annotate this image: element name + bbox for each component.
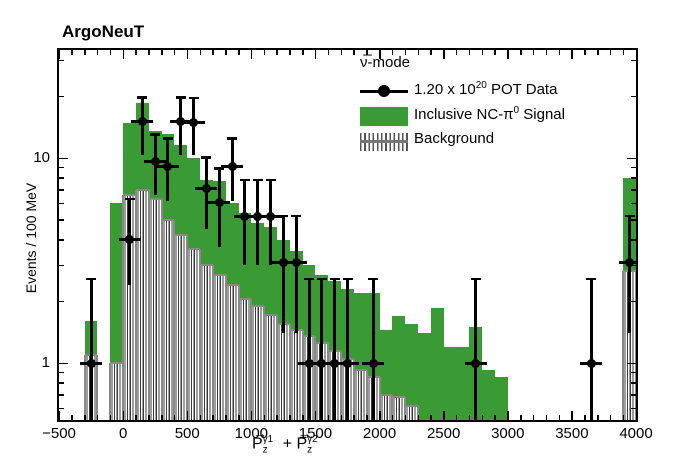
x-minor-tick — [200, 415, 202, 420]
x-minor-tick — [341, 415, 343, 420]
x-minor-tick-top — [328, 50, 330, 55]
background-bar-edge — [276, 315, 278, 420]
signal-bar — [456, 347, 469, 420]
y-major-tick-right — [627, 158, 636, 160]
x-minor-tick — [84, 415, 86, 420]
y-minor-tick — [59, 189, 64, 191]
signal-bar — [444, 347, 457, 420]
signal-bar — [482, 370, 495, 420]
y-minor-tick-right — [631, 96, 636, 98]
y-major-tick — [59, 158, 68, 160]
data-point-marker — [125, 235, 134, 244]
x-minor-tick — [161, 415, 163, 420]
data-point-cap — [150, 133, 160, 136]
data-point-cap — [304, 278, 314, 281]
data-point-cap — [189, 97, 199, 100]
x-minor-tick-top — [200, 50, 202, 55]
signal-swatch-icon — [360, 107, 408, 126]
data-point-cap — [625, 215, 635, 218]
y-major-tick-right — [627, 363, 636, 365]
x-minor-tick — [97, 415, 99, 420]
x-minor-tick — [135, 415, 137, 420]
y-minor-tick — [59, 219, 64, 221]
x-major-tick — [187, 411, 189, 420]
legend-row-signal: Inclusive NC-π0 Signal — [352, 104, 622, 129]
x-minor-tick-top — [623, 50, 625, 55]
y-minor-tick — [59, 177, 64, 179]
data-point-marker — [228, 162, 237, 171]
x-title-sub1: z — [263, 445, 268, 456]
data-point-marker — [202, 184, 211, 193]
y-minor-tick — [59, 96, 64, 98]
x-minor-tick-top — [135, 50, 137, 55]
x-minor-tick — [174, 415, 176, 420]
y-minor-tick-right — [631, 219, 636, 221]
signal-bar — [431, 308, 444, 420]
data-point-errorbar — [243, 179, 246, 265]
x-minor-tick — [430, 415, 432, 420]
background-bar-edge — [366, 370, 368, 420]
background-bar-edge — [173, 220, 175, 420]
data-point-cap — [125, 198, 135, 201]
x-minor-tick-top — [148, 50, 150, 55]
data-point-marker — [343, 359, 352, 368]
data-point-marker — [369, 359, 378, 368]
y-major-tick — [59, 363, 68, 365]
data-point-cap — [253, 179, 263, 182]
data-point-marker — [587, 359, 596, 368]
y-minor-tick-right — [631, 394, 636, 396]
x-minor-tick — [469, 415, 471, 420]
y-minor-tick — [59, 203, 64, 205]
data-point-cap — [201, 156, 211, 159]
x-major-tick — [251, 411, 253, 420]
y-minor-tick-right — [631, 189, 636, 191]
y-minor-tick-right — [631, 177, 636, 179]
data-point-cap — [586, 278, 596, 281]
data-point-errorbar — [590, 278, 593, 420]
y-minor-tick-right — [631, 203, 636, 205]
x-tick-label: 4000 — [591, 425, 681, 442]
data-point-marker — [292, 258, 301, 267]
x-minor-tick — [597, 415, 599, 420]
legend-row-background: Background — [352, 129, 622, 154]
data-point-cap — [278, 215, 288, 218]
data-point-cap — [240, 179, 250, 182]
legend: ν̅-mode 1.20 x 1020 POT Data Inclusive N… — [352, 54, 622, 154]
background-bar-edge — [186, 235, 188, 420]
data-point-cap — [176, 96, 186, 99]
x-major-tick-top — [59, 50, 61, 59]
x-minor-tick-top — [97, 50, 99, 55]
background-bar-edge — [263, 306, 265, 420]
x-major-tick — [315, 411, 317, 420]
data-point-cap — [317, 278, 327, 281]
x-minor-tick — [110, 415, 112, 420]
x-minor-tick — [353, 415, 355, 420]
data-point-errorbar — [372, 278, 375, 420]
y-minor-tick — [59, 60, 64, 62]
y-tick-label: 1 — [10, 354, 50, 371]
x-minor-tick — [559, 415, 561, 420]
data-point-errorbar — [256, 179, 259, 265]
x-minor-tick-top — [302, 50, 304, 55]
data-point-cap — [343, 278, 353, 281]
data-point-cap — [368, 278, 378, 281]
legend-signal-label: Inclusive NC-π0 Signal — [414, 105, 565, 123]
x-minor-tick — [264, 415, 266, 420]
x-minor-tick-top — [212, 50, 214, 55]
background-bar-icon — [360, 140, 408, 143]
y-minor-tick-right — [631, 265, 636, 267]
y-minor-tick — [59, 394, 64, 396]
x-minor-tick — [148, 415, 150, 420]
x-minor-tick — [418, 415, 420, 420]
x-major-tick — [571, 411, 573, 420]
data-point-cap — [266, 179, 276, 182]
x-minor-tick-top — [341, 50, 343, 55]
chart-root: ArgoNeuT Events / 100 MeV → Pzγ1 + → Pzγ… — [0, 0, 696, 472]
x-major-tick — [443, 411, 445, 420]
x-major-tick-top — [251, 50, 253, 59]
x-minor-tick-top — [71, 50, 73, 55]
background-bar-edge — [135, 190, 137, 420]
background-bar-edge — [289, 324, 291, 420]
x-minor-tick — [366, 415, 368, 420]
data-point-errorbar — [474, 278, 477, 420]
data-point-cap — [291, 215, 301, 218]
legend-background-label: Background — [414, 130, 494, 147]
x-minor-tick-top — [264, 50, 266, 55]
x-major-tick — [507, 411, 509, 420]
x-major-tick-top — [636, 50, 638, 59]
y-minor-tick — [59, 301, 64, 303]
x-minor-tick — [533, 415, 535, 420]
data-point-errorbar — [295, 215, 298, 334]
x-minor-tick-top — [238, 50, 240, 55]
x-minor-tick-top — [225, 50, 227, 55]
x-minor-tick — [238, 415, 240, 420]
x-minor-tick — [302, 415, 304, 420]
x-major-tick — [123, 411, 125, 420]
legend-row-mode: ν̅-mode — [352, 54, 622, 79]
background-bar-edge — [302, 330, 304, 420]
x-minor-tick — [482, 415, 484, 420]
signal-bar — [418, 333, 431, 420]
data-point-errorbar — [346, 278, 349, 420]
y-minor-tick-right — [631, 60, 636, 62]
background-bar-edge — [148, 190, 150, 420]
y-minor-tick — [59, 372, 64, 374]
y-axis-title: Events / 100 MeV — [23, 138, 39, 338]
data-point-errorbar — [282, 215, 285, 334]
x-minor-tick — [225, 415, 227, 420]
x-major-tick — [379, 411, 381, 420]
data-point-cap — [330, 278, 340, 281]
page-title: ArgoNeuT — [62, 22, 144, 42]
data-point-errorbar — [320, 278, 323, 420]
x-minor-tick-top — [110, 50, 112, 55]
data-point-cap — [471, 278, 481, 281]
background-bar-edge — [161, 199, 163, 420]
x-title-sub2: z — [307, 445, 312, 456]
x-minor-tick — [71, 415, 73, 420]
x-minor-tick — [405, 415, 407, 420]
y-minor-tick-right — [631, 239, 636, 241]
y-minor-tick-right — [631, 167, 636, 169]
data-point-errorbar — [218, 167, 221, 246]
background-bar-edge — [122, 195, 124, 420]
data-point-marker — [471, 359, 480, 368]
background-bar-edge — [225, 275, 227, 420]
legend-row-data: 1.20 x 1020 POT Data — [352, 79, 622, 104]
x-minor-tick — [276, 415, 278, 420]
x-minor-tick — [546, 415, 548, 420]
data-point-cap — [137, 96, 147, 99]
x-minor-tick-top — [174, 50, 176, 55]
data-point-errorbar — [269, 179, 272, 265]
x-minor-tick — [456, 415, 458, 420]
background-bar-edge — [314, 336, 316, 420]
data-point-marker — [215, 198, 224, 207]
background-bar-edge — [109, 363, 111, 420]
background-bar-edge — [250, 299, 252, 420]
background-bar-edge — [622, 271, 624, 420]
data-point-cap — [86, 278, 96, 281]
x-minor-tick-top — [276, 50, 278, 55]
x-major-tick — [636, 411, 638, 420]
x-minor-tick-top — [289, 50, 291, 55]
y-minor-tick — [59, 265, 64, 267]
background-bar-edge — [212, 265, 214, 420]
data-point-errorbar — [308, 278, 311, 420]
background-bar-edge — [353, 359, 355, 420]
x-minor-tick-top — [161, 50, 163, 55]
x-minor-tick — [212, 415, 214, 420]
data-point-errorbar — [90, 278, 93, 420]
x-major-tick-top — [123, 50, 125, 59]
x-major-tick-top — [187, 50, 189, 59]
y-minor-tick-right — [631, 382, 636, 384]
data-point-marker — [87, 359, 96, 368]
x-minor-tick — [584, 415, 586, 420]
data-point-cap — [163, 137, 173, 140]
x-minor-tick — [328, 415, 330, 420]
x-major-tick-top — [315, 50, 317, 59]
data-point-errorbar — [333, 278, 336, 420]
y-minor-tick-right — [631, 372, 636, 374]
x-major-tick — [59, 411, 61, 420]
legend-mode-label: ν̅-mode — [360, 54, 410, 71]
y-tick-label: 10 — [10, 149, 50, 166]
data-point-marker — [189, 118, 198, 127]
y-minor-tick — [59, 167, 64, 169]
data-point-marker — [266, 212, 275, 221]
background-bar-edge — [238, 285, 240, 420]
legend-data-label: 1.20 x 1020 POT Data — [414, 80, 557, 98]
background-bar-edge — [199, 249, 201, 420]
data-marker-dot-icon — [378, 85, 390, 97]
y-minor-tick — [59, 382, 64, 384]
x-minor-tick — [610, 415, 612, 420]
x-minor-tick — [392, 415, 394, 420]
background-bar-edge — [327, 343, 329, 420]
x-minor-tick — [520, 415, 522, 420]
x-minor-tick — [494, 415, 496, 420]
y-minor-tick-right — [631, 301, 636, 303]
x-minor-tick-top — [84, 50, 86, 55]
y-minor-tick — [59, 239, 64, 241]
y-minor-tick — [59, 408, 64, 410]
background-bar-edge — [635, 271, 636, 420]
y-minor-tick-right — [631, 408, 636, 410]
x-minor-tick — [289, 415, 291, 420]
signal-bar — [495, 377, 508, 420]
x-minor-tick — [623, 415, 625, 420]
data-point-cap — [227, 137, 237, 140]
data-point-errorbar — [628, 215, 631, 334]
